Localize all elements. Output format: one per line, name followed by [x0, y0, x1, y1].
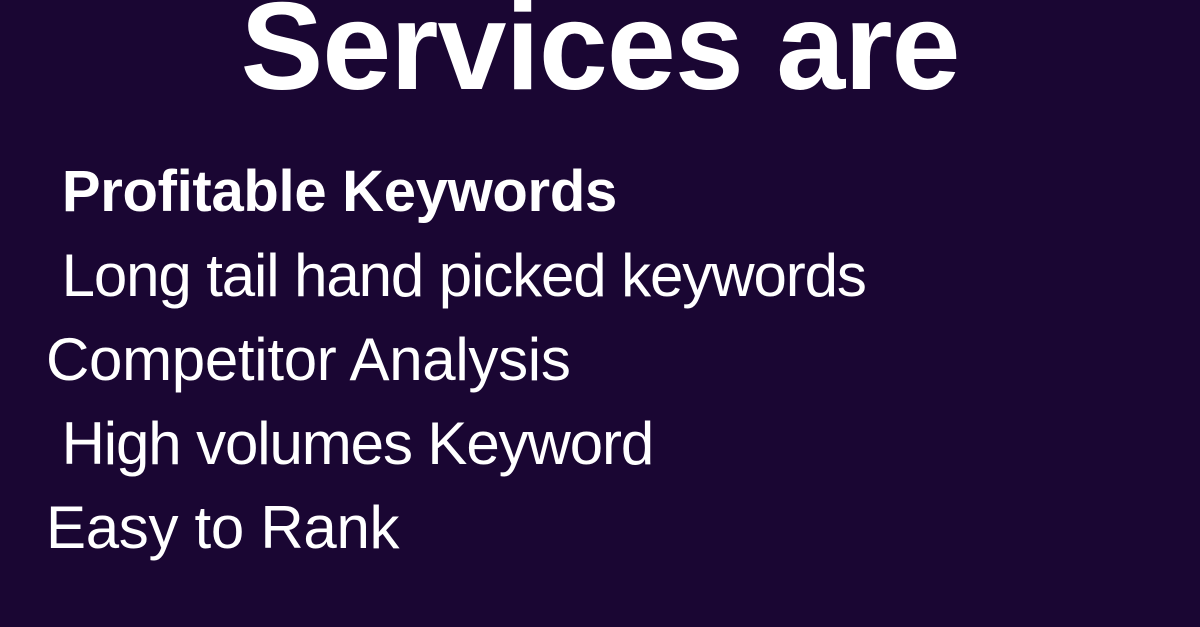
list-item-easy-to-rank: Easy to Rank — [0, 486, 1200, 570]
page-title: Services are — [241, 0, 960, 110]
list-item-long-tail-hand-picked-keywords: Long tail hand picked keywords — [0, 234, 1200, 318]
slide-canvas: Services are Profitable Keywords Long ta… — [0, 0, 1200, 627]
title-container: Services are — [0, 0, 1200, 130]
services-list: Profitable Keywords Long tail hand picke… — [0, 150, 1200, 570]
list-item-high-volumes-keyword: High volumes Keyword — [0, 402, 1200, 486]
list-item-competitor-analysis: Competitor Analysis — [0, 318, 1200, 402]
list-item-profitable-keywords: Profitable Keywords — [0, 150, 1200, 234]
